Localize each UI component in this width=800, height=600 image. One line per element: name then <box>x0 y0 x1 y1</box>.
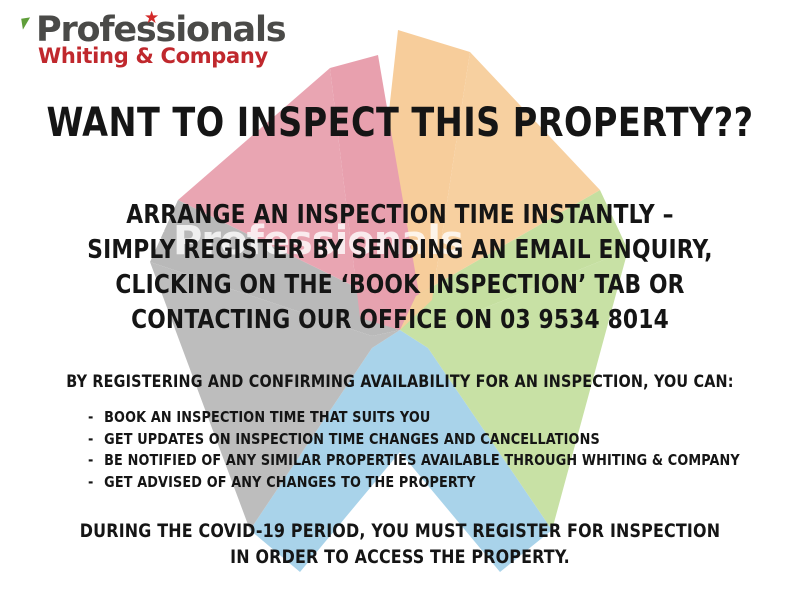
bullet-marker: - <box>88 450 104 472</box>
leaf-icon <box>21 17 32 29</box>
benefits-list: -BOOK AN INSPECTION TIME THAT SUITS YOU … <box>88 407 748 493</box>
list-item: -GET UPDATES ON INSPECTION TIME CHANGES … <box>88 429 715 451</box>
list-item-label: GET ADVISED OF ANY CHANGES TO THE PROPER… <box>104 473 475 491</box>
brand-logo[interactable]: ★ Professionals Whiting & Company <box>22 12 252 68</box>
poster-content: WANT TO INSPECT THIS PROPERTY?? ARRANGE … <box>0 0 800 600</box>
list-item: -BOOK AN INSPECTION TIME THAT SUITS YOU <box>88 407 715 429</box>
logo-brand-name: Professionals <box>36 10 285 50</box>
benefits-intro-line: BY REGISTERING AND CONFIRMING AVAILABILI… <box>62 371 739 393</box>
list-item-label: GET UPDATES ON INSPECTION TIME CHANGES A… <box>104 430 600 448</box>
list-item-label: BE NOTIFIED OF ANY SIMILAR PROPERTIES AV… <box>104 451 740 469</box>
bullet-marker: - <box>88 429 104 451</box>
bullet-marker: - <box>88 472 104 494</box>
subheadline-instructions: ARRANGE AN INSPECTION TIME INSTANTLY – S… <box>79 198 721 338</box>
list-item: -BE NOTIFIED OF ANY SIMILAR PROPERTIES A… <box>88 450 715 472</box>
logo-primary-line: ★ Professionals <box>22 12 252 48</box>
list-item: -GET ADVISED OF ANY CHANGES TO THE PROPE… <box>88 472 715 494</box>
list-item-label: BOOK AN INSPECTION TIME THAT SUITS YOU <box>104 408 430 426</box>
covid-notice: DURING THE COVID-19 PERIOD, YOU MUST REG… <box>79 518 721 570</box>
poster-canvas: ★Professionals ★ Professionals Whiting &… <box>0 0 800 600</box>
page-title: WANT TO INSPECT THIS PROPERTY?? <box>28 100 772 146</box>
star-icon: ★ <box>144 10 158 27</box>
bullet-marker: - <box>88 407 104 429</box>
